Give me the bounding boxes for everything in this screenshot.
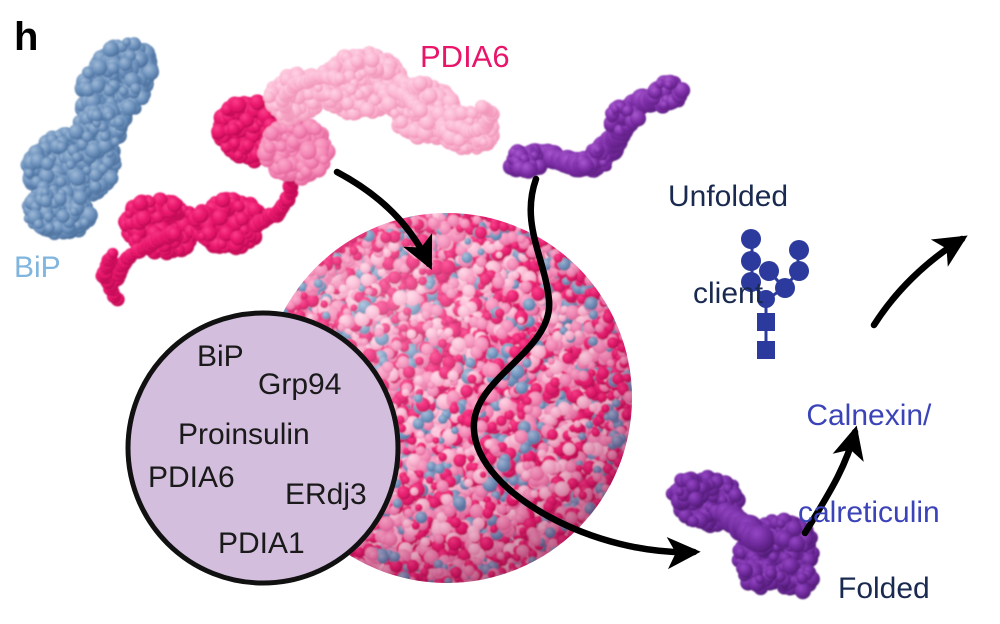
- condensate-client-bip: BiP: [197, 340, 244, 374]
- unfolded-client-label-line2: client: [668, 278, 788, 310]
- unfolded-client-label-line1: Unfolded: [668, 181, 788, 213]
- folded-client-label-line1: Folded: [838, 573, 930, 605]
- figure-panel-h: h PDIA6 BiP Unfolded client Calnexin/ ca…: [0, 0, 1000, 624]
- condensate-client-pdia1: PDIA1: [218, 527, 305, 561]
- folded-client-structure: [666, 470, 820, 599]
- calnexin-label-line1: Calnexin/: [798, 400, 940, 432]
- bip-label: BiP: [14, 252, 61, 284]
- condensate-client-grp94: Grp94: [258, 368, 341, 402]
- condensate-client-erdj3: ERdj3: [285, 478, 367, 512]
- panel-letter: h: [14, 16, 38, 59]
- condensate-client-proinsulin: Proinsulin: [178, 418, 310, 452]
- unfolded-client-structure: [503, 75, 690, 179]
- pdia6-label: PDIA6: [420, 40, 510, 73]
- folded-client-label: Folded client: [838, 508, 930, 624]
- unfolded-client-label: Unfolded client: [668, 116, 788, 375]
- condensate-client-pdia6: PDIA6: [148, 461, 235, 495]
- arrow-calnexin-outward: [874, 239, 962, 325]
